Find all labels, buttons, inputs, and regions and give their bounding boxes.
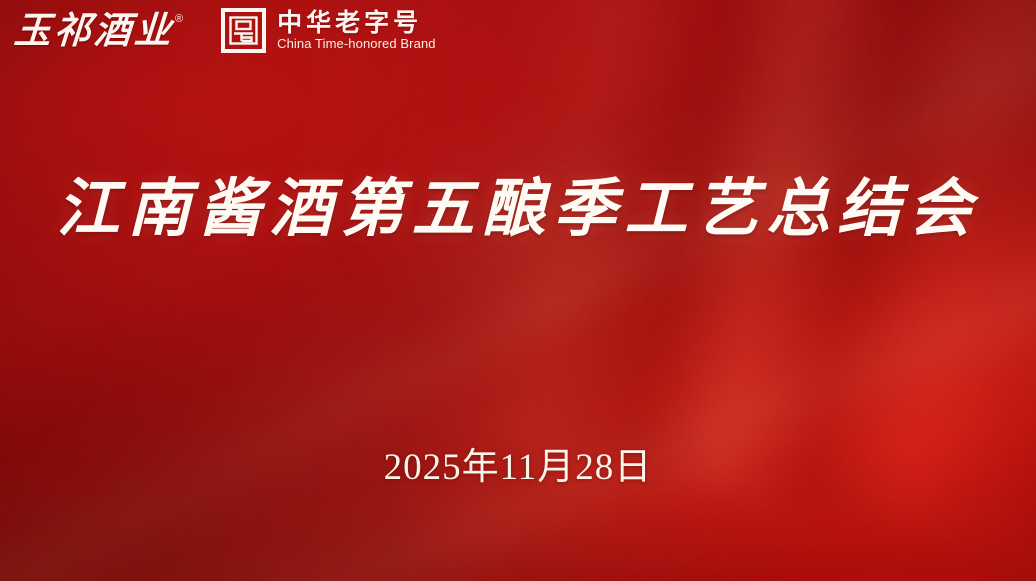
company-logo: 玉祁酒业 ® [14, 12, 183, 49]
china-time-honored-chinese: 中华老字号 [277, 10, 436, 36]
china-time-honored-text: 中华老字号 China Time-honored Brand [277, 10, 436, 52]
background-vignette [0, 0, 1036, 581]
slide-title: 江南酱酒第五酿季工艺总结会 [0, 174, 1036, 242]
slide-date: 2025年11月28日 [0, 448, 1036, 489]
company-name-wordmark: 玉祁酒业 [13, 12, 176, 49]
china-time-honored-english: China Time-honored Brand [277, 37, 436, 51]
china-time-honored-seal-icon [221, 8, 266, 53]
presentation-slide: 玉祁酒业 ® 中华老字号 China Time-honored Brand 江南… [0, 0, 1036, 581]
slide-header: 玉祁酒业 ® 中华老字号 China Time-honored Brand [14, 8, 436, 53]
china-time-honored-brand-logo: 中华老字号 China Time-honored Brand [221, 8, 436, 53]
registered-trademark-icon: ® [175, 14, 183, 25]
